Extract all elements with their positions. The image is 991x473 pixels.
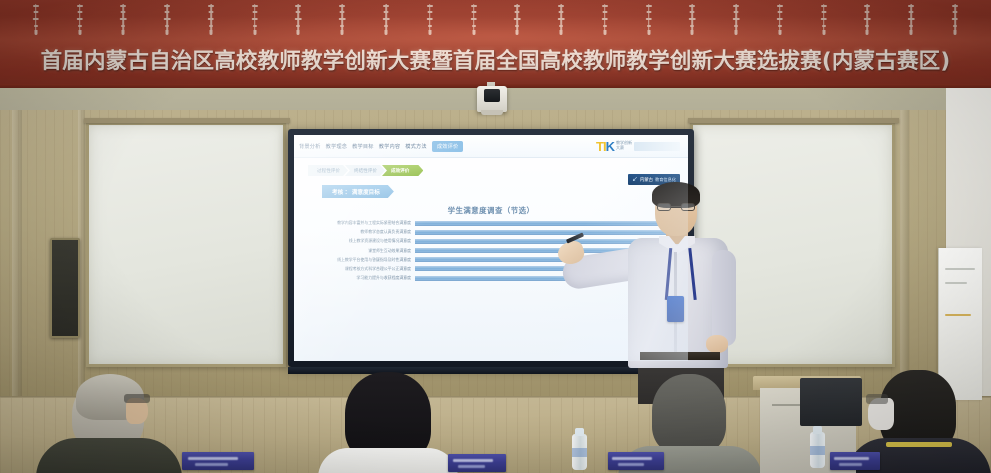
chart-bar-row: 线上教学资源建设与使用情况满意度93.1% bbox=[303, 238, 682, 244]
mongolian-glyph bbox=[513, 2, 522, 39]
mongolian-glyph bbox=[425, 2, 434, 33]
camera-lens-icon bbox=[484, 89, 500, 102]
tk-logo-icon: TIK教学创新大赛 bbox=[596, 140, 683, 153]
chart-category-label: 线上教学资源建设与使用情况满意度 bbox=[303, 238, 415, 244]
flip-chart-easel bbox=[938, 248, 982, 400]
brand-name: 内蒙古 bbox=[640, 177, 653, 183]
water-bottle bbox=[810, 432, 825, 468]
chart-bar bbox=[415, 239, 664, 244]
mongolian-glyph bbox=[950, 2, 959, 33]
chart-bar-track: 95.3% bbox=[415, 230, 682, 235]
mongolian-glyph bbox=[250, 2, 259, 33]
mongolian-glyph bbox=[819, 2, 828, 36]
tk-mark: TIK bbox=[596, 140, 614, 153]
slide-tab-0[interactable]: 背景分析 bbox=[299, 143, 321, 150]
mongolian-glyph bbox=[206, 2, 215, 30]
water-bottle bbox=[572, 434, 587, 470]
mongolian-glyph bbox=[600, 2, 609, 33]
podium-slot bbox=[772, 404, 800, 406]
mongolian-glyph bbox=[338, 2, 347, 39]
chart-title: 学生满意度调查（节选） bbox=[300, 205, 682, 216]
chart-category-label: 线上教学平台使用与答疑指导及时性满意度 bbox=[303, 257, 415, 263]
slide-tab-2[interactable]: 教学目标 bbox=[352, 143, 374, 150]
chart-bar-row: 教学内容丰富并与工程实际紧密结合满意度96.7% bbox=[303, 220, 682, 226]
mongolian-glyph bbox=[119, 2, 128, 36]
chart-bar bbox=[415, 230, 669, 235]
slide-tab-4[interactable]: 模式方法 bbox=[405, 143, 427, 150]
slide-tab-5[interactable]: 成效评价 bbox=[432, 141, 464, 152]
chart-category-label: 教师教学态度认真负责满意度 bbox=[303, 229, 415, 235]
mongolian-glyph bbox=[557, 2, 566, 30]
mongolian-glyph bbox=[469, 2, 478, 36]
slide-breadcrumb: 过程性评价终结性评价成效评价 bbox=[308, 165, 420, 176]
chart-category-label: 学习能力提升与收获程度满意度 bbox=[303, 275, 415, 281]
topbar-fade bbox=[634, 142, 680, 151]
breadcrumb-step-1[interactable]: 终结性评价 bbox=[345, 165, 385, 176]
whiteboard-left-rail bbox=[84, 118, 290, 123]
wood-column-right bbox=[900, 110, 909, 400]
swoosh-icon: ↙ bbox=[632, 176, 638, 183]
competition-banner: 首届内蒙古自治区高校教师教学创新大赛暨首届全国高校教师教学创新大赛选拔赛(内蒙古… bbox=[0, 0, 991, 88]
mongolian-glyph bbox=[863, 2, 872, 39]
mongolian-glyph bbox=[644, 2, 653, 36]
presenter-id-badge bbox=[667, 296, 684, 322]
wood-column-left bbox=[12, 110, 22, 400]
chart-bar-track: 96.7% bbox=[415, 221, 682, 226]
mongolian-glyph bbox=[75, 2, 84, 33]
mongolian-glyph bbox=[31, 2, 40, 30]
glasses-icon bbox=[866, 394, 888, 404]
glasses-icon bbox=[657, 203, 695, 211]
whiteboard-right-rail bbox=[688, 118, 899, 123]
mongolian-glyph bbox=[907, 2, 916, 30]
camera-foot bbox=[481, 110, 503, 115]
mongolian-glyph bbox=[732, 2, 741, 30]
classroom-scene: 首届内蒙古自治区高校教师教学创新大赛暨首届全国高校教师教学创新大赛选拔赛(内蒙古… bbox=[0, 0, 991, 473]
slide-section-title: 考核 ： 满意度目标 bbox=[322, 185, 394, 198]
mongolian-glyph bbox=[688, 2, 697, 39]
display-bottom-bar bbox=[288, 367, 694, 374]
presenter-left-hand bbox=[706, 335, 728, 353]
name-placard bbox=[830, 452, 880, 470]
mongolian-glyph bbox=[294, 2, 303, 36]
banner-title: 首届内蒙古自治区高校教师教学创新大赛暨首届全国高校教师教学创新大赛选拔赛(内蒙古… bbox=[0, 44, 991, 75]
mongolian-script-row bbox=[0, 2, 991, 40]
presenter-left-arm bbox=[712, 250, 736, 346]
slide-nav-tabs: 背景分析教学理念教学目标教学内容模式方法成效评价TIK教学创新大赛 bbox=[294, 135, 688, 158]
mongolian-glyph bbox=[382, 2, 391, 30]
whiteboard-left bbox=[86, 122, 286, 367]
wall-speaker-icon bbox=[50, 238, 80, 338]
yellow-lanyard bbox=[886, 442, 952, 447]
name-placard bbox=[182, 452, 254, 470]
name-placard bbox=[448, 454, 506, 472]
podium-monitor bbox=[800, 378, 862, 426]
mongolian-glyph bbox=[163, 2, 172, 39]
chart-category-label: 课程考核方式科学合理公平公正满意度 bbox=[303, 266, 415, 272]
breadcrumb-step-0[interactable]: 过程性评价 bbox=[308, 165, 348, 176]
chart-bar-row: 教师教学态度认真负责满意度95.3% bbox=[303, 229, 682, 235]
chart-category-label: 课堂师生互动效果满意度 bbox=[303, 248, 415, 254]
glasses-icon bbox=[124, 394, 150, 403]
tk-sub: 教学创新大赛 bbox=[616, 141, 632, 150]
slide-tab-3[interactable]: 教学内容 bbox=[379, 143, 401, 150]
name-placard bbox=[608, 452, 664, 470]
breadcrumb-step-2[interactable]: 成效评价 bbox=[382, 165, 423, 176]
slide-tab-1[interactable]: 教学理念 bbox=[326, 143, 348, 150]
presenter-belt bbox=[640, 352, 720, 360]
mongolian-glyph bbox=[775, 2, 784, 33]
chart-category-label: 教学内容丰富并与工程实际紧密结合满意度 bbox=[303, 220, 415, 226]
chart-bar bbox=[415, 221, 673, 226]
